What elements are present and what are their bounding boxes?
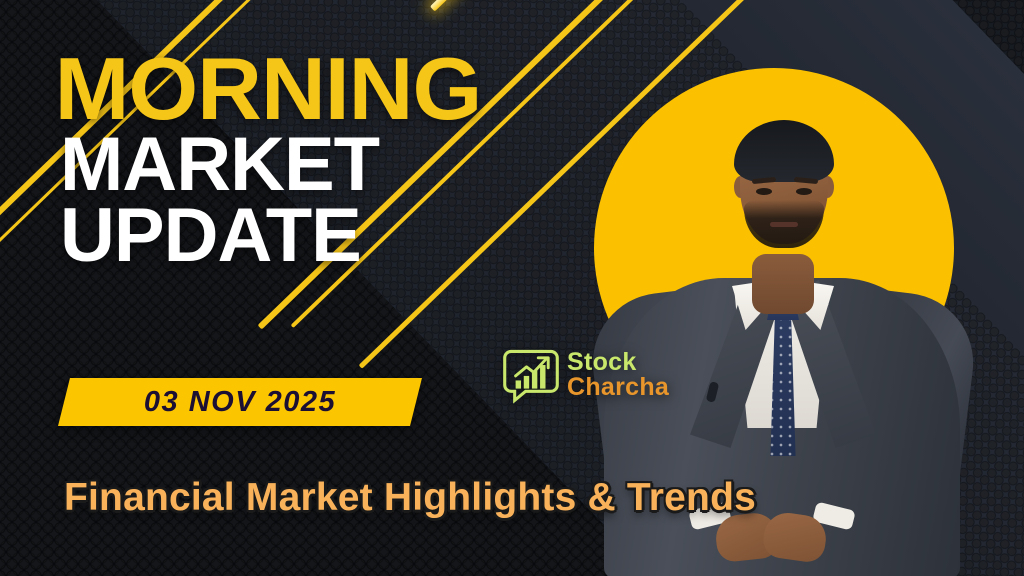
presenter-eye-left <box>756 188 772 195</box>
presenter-neck <box>752 254 814 314</box>
presenter-hair <box>734 120 834 182</box>
tagline: Financial Market Highlights & Trends <box>64 476 964 520</box>
presenter-mouth <box>770 222 798 227</box>
date-badge-label: 03 NOV 2025 <box>64 378 416 426</box>
brand-logo: Stock Charcha <box>502 346 669 404</box>
brand-word-charcha: Charcha <box>567 375 669 400</box>
brand-wordmark: Stock Charcha <box>567 350 669 400</box>
headline-line-morning: MORNING <box>55 48 606 130</box>
headline-line-update: UPDATE <box>60 201 600 272</box>
brand-word-stock: Stock <box>567 350 669 375</box>
presenter-eye-right <box>796 188 812 195</box>
stock-chart-speech-bubble-icon <box>502 346 560 404</box>
headline-block: MORNING MARKET UPDATE <box>60 48 600 271</box>
headline-line-market: MARKET <box>60 130 600 201</box>
thumbnail-canvas: MORNING MARKET UPDATE 03 NOV 2025 Stock … <box>0 0 1024 576</box>
date-badge: 03 NOV 2025 <box>58 378 422 426</box>
